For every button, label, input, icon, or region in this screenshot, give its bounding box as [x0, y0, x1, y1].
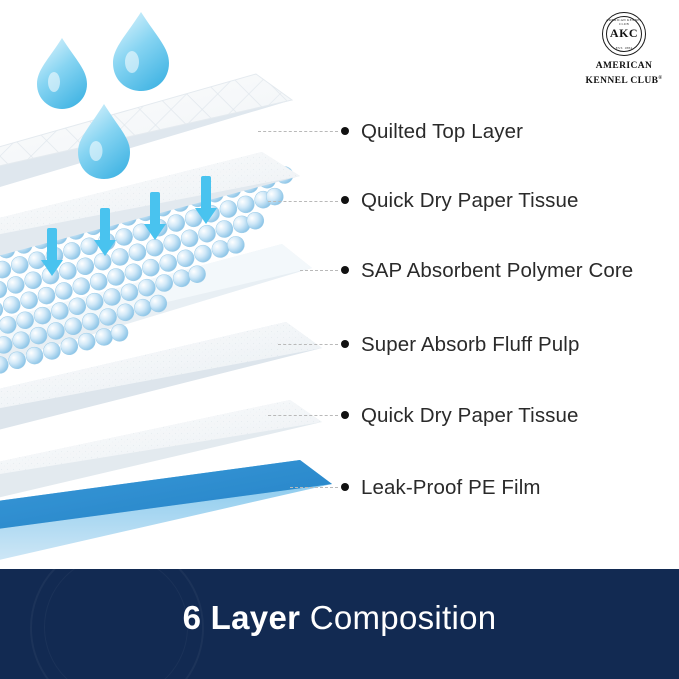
akc-wordmark: AMERICAN KENNEL CLUB®: [583, 61, 665, 87]
callout-dot-4: [341, 340, 349, 348]
akc-wordmark-line1: AMERICAN: [583, 61, 665, 73]
trademark-symbol: ®: [658, 76, 662, 81]
exploded-layer-illustration: [0, 0, 679, 570]
leader-line-6: [290, 487, 338, 488]
footer-banner: 6 Layer Composition: [0, 569, 679, 679]
leader-line-2: [268, 201, 338, 202]
callout-dot-1: [341, 127, 349, 135]
akc-logo: AMERICAN KENNEL CLUB AKC EST. 1884 AMERI…: [583, 12, 665, 90]
water-droplet-icon: [113, 12, 169, 91]
akc-wordmark-line2-text: KENNEL CLUB: [586, 76, 659, 86]
leader-line-5: [268, 415, 338, 416]
akc-seal-icon: AMERICAN KENNEL CLUB AKC EST. 1884: [602, 12, 646, 56]
callout-label-sap-absorbent-polymer-core: SAP Absorbent Polymer Core: [361, 259, 633, 283]
akc-wordmark-line2: KENNEL CLUB®: [583, 73, 665, 88]
seal-arc-bottom-text: EST. 1884: [603, 46, 645, 50]
leader-line-4: [278, 344, 338, 345]
callout-dot-3: [341, 266, 349, 274]
callout-label-quick-dry-paper-tissue-lower: Quick Dry Paper Tissue: [361, 404, 579, 428]
leader-line-3: [300, 270, 338, 271]
seal-arc-top-text: AMERICAN KENNEL CLUB: [603, 18, 645, 26]
callout-label-leak-proof-pe-film: Leak-Proof PE Film: [361, 476, 541, 500]
footer-title-light: Composition: [310, 599, 497, 636]
callout-dot-6: [341, 483, 349, 491]
footer-title-bold: 6 Layer: [183, 599, 310, 636]
footer-title: 6 Layer Composition: [0, 599, 679, 637]
callout-label-super-absorb-fluff-pulp: Super Absorb Fluff Pulp: [361, 333, 579, 357]
seal-monogram: AKC: [603, 26, 645, 41]
callout-dot-2: [341, 196, 349, 204]
callout-label-quilted-top-layer: Quilted Top Layer: [361, 120, 523, 144]
callout-dot-5: [341, 411, 349, 419]
leader-line-1: [258, 131, 338, 132]
callout-label-quick-dry-paper-tissue-upper: Quick Dry Paper Tissue: [361, 189, 579, 213]
layer-composition-infographic: AMERICAN KENNEL CLUB AKC EST. 1884 AMERI…: [0, 0, 679, 679]
water-droplet-icon: [37, 38, 87, 109]
